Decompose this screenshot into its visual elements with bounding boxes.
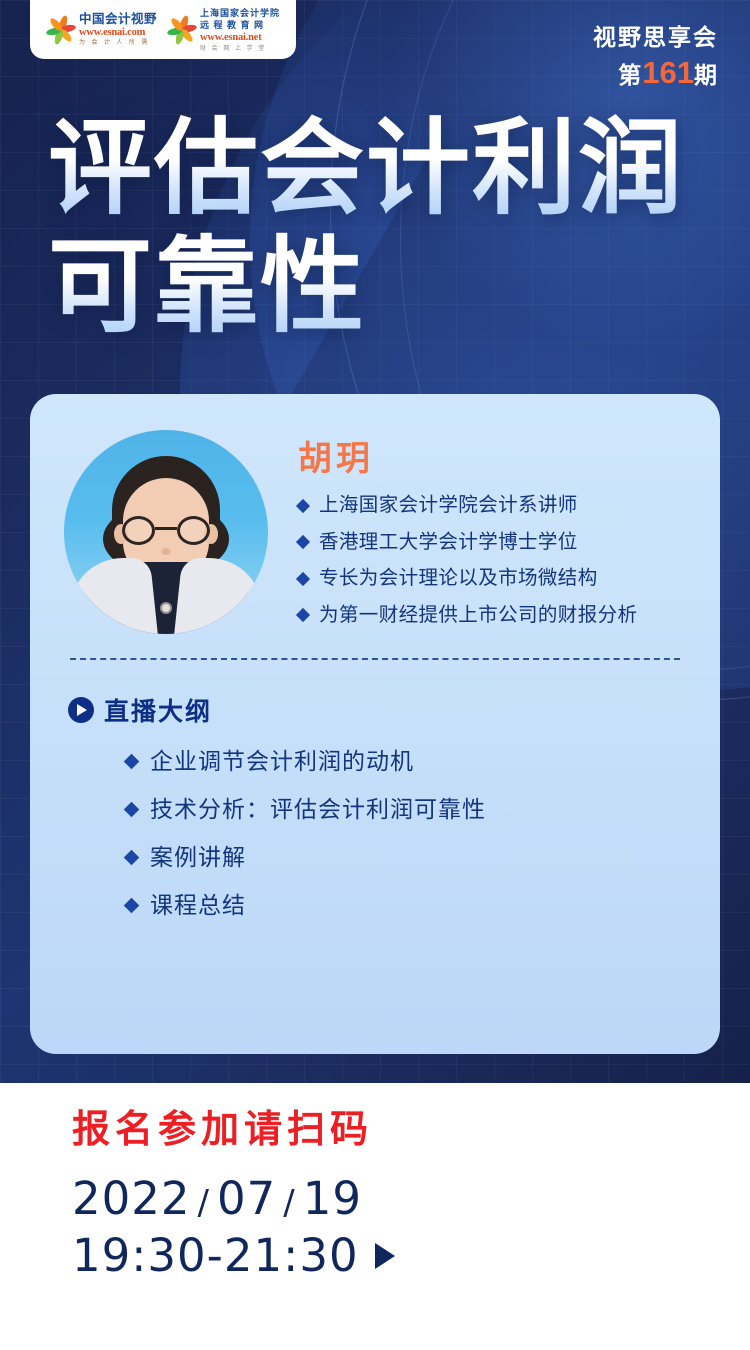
event-time: 19:30-21:30: [72, 1232, 395, 1279]
avatar: [64, 430, 268, 634]
esnai-flower-logo-icon: [46, 15, 76, 45]
speaker-block: 胡玥 上海国家会计学院会计系讲师 香港理工大学会计学博士学位 专长为会计理论以及…: [268, 430, 637, 642]
speaker-name: 胡玥: [298, 442, 637, 476]
diamond-bullet-icon: [296, 572, 310, 586]
footer-text-block: 报名参加请扫码 2022 / 07 / 19 19:30-21:30: [72, 1111, 395, 1280]
outline-item: 技术分析：评估会计利润可靠性: [126, 798, 720, 821]
section-divider: [70, 658, 680, 660]
credential-item: 上海国家会计学院会计系讲师: [298, 496, 637, 516]
poster-root: 中国会计视野 www.esnai.com 为 会 计 人 所 需 上海国家会计学…: [0, 0, 750, 1350]
cta-text: 报名参加请扫码: [72, 1111, 395, 1149]
logo-tagline: 财 会 网 上 学 堂: [200, 46, 280, 52]
date-day: 19: [303, 1175, 362, 1222]
logo-name-cn: 中国会计视野: [79, 13, 157, 26]
credential-item: 专长为会计理论以及市场微结构: [298, 569, 637, 589]
diamond-bullet-icon: [296, 499, 310, 513]
issue-number: 161: [642, 55, 694, 90]
date-separator: /: [283, 1186, 295, 1222]
logo-bar: 中国会计视野 www.esnai.com 为 会 计 人 所 需 上海国家会计学…: [30, 0, 296, 59]
credential-text: 上海国家会计学院会计系讲师: [319, 496, 578, 516]
logo-esnai-net: 上海国家会计学院 远 程 教 育 网 www.esnai.net 财 会 网 上…: [167, 7, 280, 52]
credential-text: 为第一财经提供上市公司的财报分析: [319, 606, 637, 626]
outline-list: 企业调节会计利润的动机 技术分析：评估会计利润可靠性 案例讲解 课程总结: [30, 728, 720, 917]
logo-name-cn-line1: 上海国家会计学院: [200, 7, 280, 19]
outline-item: 企业调节会计利润的动机: [126, 750, 720, 773]
series-name: 视野思享会: [593, 24, 718, 50]
page-title: 评估会计利润 可靠性: [48, 112, 728, 343]
speaker-credentials: 上海国家会计学院会计系讲师 香港理工大学会计学博士学位 专长为会计理论以及市场微…: [298, 496, 637, 625]
logo-esnai-com: 中国会计视野 www.esnai.com 为 会 计 人 所 需: [46, 13, 157, 46]
outline-item-text: 企业调节会计利润的动机: [150, 750, 414, 773]
outline-heading: 直播大纲: [104, 692, 212, 728]
issue-line: 第161期: [593, 55, 718, 90]
footer: 报名参加请扫码 2022 / 07 / 19 19:30-21:30: [0, 1083, 750, 1350]
issue-badge: 视野思享会 第161期: [593, 24, 718, 91]
diamond-bullet-icon: [124, 754, 140, 770]
esnai-flower-logo-icon: [167, 15, 197, 45]
issue-suffix: 期: [694, 62, 718, 88]
outline-header: 直播大纲: [30, 660, 720, 728]
outline-item: 案例讲解: [126, 846, 720, 869]
credential-text: 香港理工大学会计学博士学位: [319, 533, 578, 553]
title-line-2: 可靠性: [48, 230, 728, 342]
title-line-1: 评估会计利润: [48, 112, 728, 224]
credential-item: 为第一财经提供上市公司的财报分析: [298, 606, 637, 626]
event-date: 2022 / 07 / 19: [72, 1175, 395, 1222]
logo-url: www.esnai.com: [79, 28, 157, 39]
credential-item: 香港理工大学会计学博士学位: [298, 533, 637, 553]
date-separator: /: [198, 1186, 210, 1222]
diamond-bullet-icon: [124, 898, 140, 914]
outline-item: 课程总结: [126, 894, 720, 917]
logo-tagline: 为 会 计 人 所 需: [79, 40, 157, 46]
logo-name-cn-line2: 远 程 教 育 网: [200, 19, 280, 31]
date-year: 2022: [72, 1175, 191, 1222]
diamond-bullet-icon: [296, 608, 310, 622]
time-range: 19:30-21:30: [72, 1232, 359, 1279]
outline-item-text: 技术分析：评估会计利润可靠性: [150, 798, 486, 821]
play-circle-icon: [68, 697, 94, 723]
diamond-bullet-icon: [124, 802, 140, 818]
info-card: 胡玥 上海国家会计学院会计系讲师 香港理工大学会计学博士学位 专长为会计理论以及…: [30, 394, 720, 1054]
credential-text: 专长为会计理论以及市场微结构: [319, 569, 598, 589]
logo-url: www.esnai.net: [200, 33, 280, 44]
diamond-bullet-icon: [124, 850, 140, 866]
diamond-bullet-icon: [296, 535, 310, 549]
issue-prefix: 第: [618, 62, 642, 88]
outline-item-text: 案例讲解: [150, 846, 246, 869]
play-triangle-icon: [375, 1243, 395, 1269]
date-month: 07: [217, 1175, 276, 1222]
outline-item-text: 课程总结: [150, 894, 246, 917]
